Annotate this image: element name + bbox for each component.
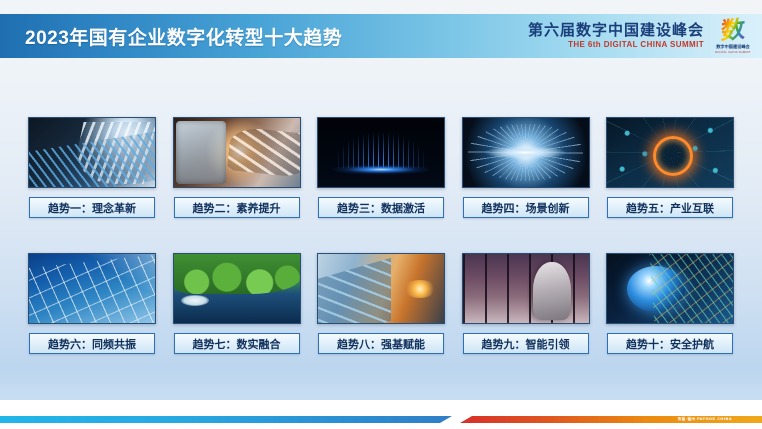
summit-logo-glyph: 数 bbox=[720, 17, 745, 43]
trend-card[interactable]: 趋势十：安全护航 bbox=[606, 253, 734, 354]
trend-thumbnail bbox=[173, 253, 301, 324]
trend-card[interactable]: 趋势九：智能引领 bbox=[462, 253, 590, 354]
summit-title-cn: 第六届数字中国建设峰会 bbox=[528, 23, 704, 38]
trend-label: 趋势四：场景创新 bbox=[463, 197, 589, 218]
trend-card[interactable]: 趋势二：素养提升 bbox=[173, 117, 301, 218]
trend-label: 趋势二：素养提升 bbox=[174, 197, 300, 218]
trend-card[interactable]: 趋势八：强基赋能 bbox=[317, 253, 445, 354]
trend-thumbnail bbox=[317, 117, 445, 188]
trend-thumbnail bbox=[606, 253, 734, 324]
trend-card[interactable]: 趋势五：产业互联 bbox=[606, 117, 734, 218]
secure-globe-circuit-image bbox=[607, 254, 733, 323]
page-title: 2023年国有企业数字化转型十大趋势 bbox=[25, 23, 342, 50]
slide-header: 2023年国有企业数字化转型十大趋势 第六届数字中国建设峰会 THE 6th D… bbox=[0, 14, 762, 58]
solar-panel-sunset-image bbox=[318, 254, 444, 323]
iot-connected-ring-image bbox=[607, 118, 733, 187]
light-burst-network-image bbox=[463, 118, 589, 187]
trend-card[interactable]: 趋势六：同频共振 bbox=[28, 253, 156, 354]
trend-label: 趋势五：产业互联 bbox=[607, 197, 733, 218]
presentation-slide: 2023年国有企业数字化转型十大趋势 第六届数字中国建设峰会 THE 6th D… bbox=[0, 0, 762, 429]
trend-label: 趋势三：数据激活 bbox=[318, 197, 444, 218]
trend-label: 趋势九：智能引领 bbox=[463, 333, 589, 354]
footer-blue-bar bbox=[0, 416, 452, 423]
trends-row-2: 趋势六：同频共振 趋势七：数实融合 趋势八：强基赋能 趋势九：智能引领 趋势十：… bbox=[28, 253, 734, 354]
forest-waterway-image bbox=[174, 254, 300, 323]
trend-thumbnail bbox=[462, 253, 590, 324]
trend-label: 趋势八：强基赋能 bbox=[318, 333, 444, 354]
slide-footer: 有福·福州·PATHOK CHINA bbox=[0, 400, 762, 429]
trend-label: 趋势十：安全护航 bbox=[607, 333, 733, 354]
keyboard-data-tunnel-image bbox=[29, 118, 155, 187]
trend-card[interactable]: 趋势四：场景创新 bbox=[462, 117, 590, 218]
summit-logo-icon: 数 数字中国建设峰会 DIGITAL CHINA SUMMIT bbox=[710, 16, 756, 56]
trend-card[interactable]: 趋势一：理念革新 bbox=[28, 117, 156, 218]
summit-branding: 第六届数字中国建设峰会 THE 6th DIGITAL CHINA SUMMIT… bbox=[528, 14, 756, 58]
footer-text: 有福·福州·PATHOK CHINA bbox=[678, 417, 732, 422]
trend-label: 趋势六：同频共振 bbox=[29, 333, 155, 354]
summit-lockup: 第六届数字中国建设峰会 THE 6th DIGITAL CHINA SUMMIT bbox=[528, 23, 704, 49]
trend-thumbnail bbox=[28, 253, 156, 324]
trend-thumbnail bbox=[28, 117, 156, 188]
robot-cityscape-image bbox=[463, 254, 589, 323]
trend-label: 趋势一：理念革新 bbox=[29, 197, 155, 218]
trend-thumbnail bbox=[173, 117, 301, 188]
trend-card[interactable]: 趋势七：数实融合 bbox=[173, 253, 301, 354]
trends-grid: 趋势一：理念革新 趋势二：素养提升 趋势三：数据激活 趋势四：场景创新 趋势五：… bbox=[28, 117, 734, 354]
hands-control-panel-image bbox=[174, 118, 300, 187]
trend-card[interactable]: 趋势三：数据激活 bbox=[317, 117, 445, 218]
trend-label: 趋势七：数实融合 bbox=[174, 333, 300, 354]
trend-thumbnail bbox=[317, 253, 445, 324]
trends-row-1: 趋势一：理念革新 趋势二：素养提升 趋势三：数据激活 趋势四：场景创新 趋势五：… bbox=[28, 117, 734, 218]
blue-data-streams-image bbox=[318, 118, 444, 187]
summit-logo-sub-en: DIGITAL CHINA SUMMIT bbox=[715, 50, 751, 54]
trend-thumbnail bbox=[462, 117, 590, 188]
footer-orange-bar: 有福·福州·PATHOK CHINA bbox=[460, 416, 762, 423]
summit-title-en: THE 6th DIGITAL CHINA SUMMIT bbox=[568, 41, 704, 49]
solar-panels-blue-image bbox=[29, 254, 155, 323]
trend-thumbnail bbox=[606, 117, 734, 188]
